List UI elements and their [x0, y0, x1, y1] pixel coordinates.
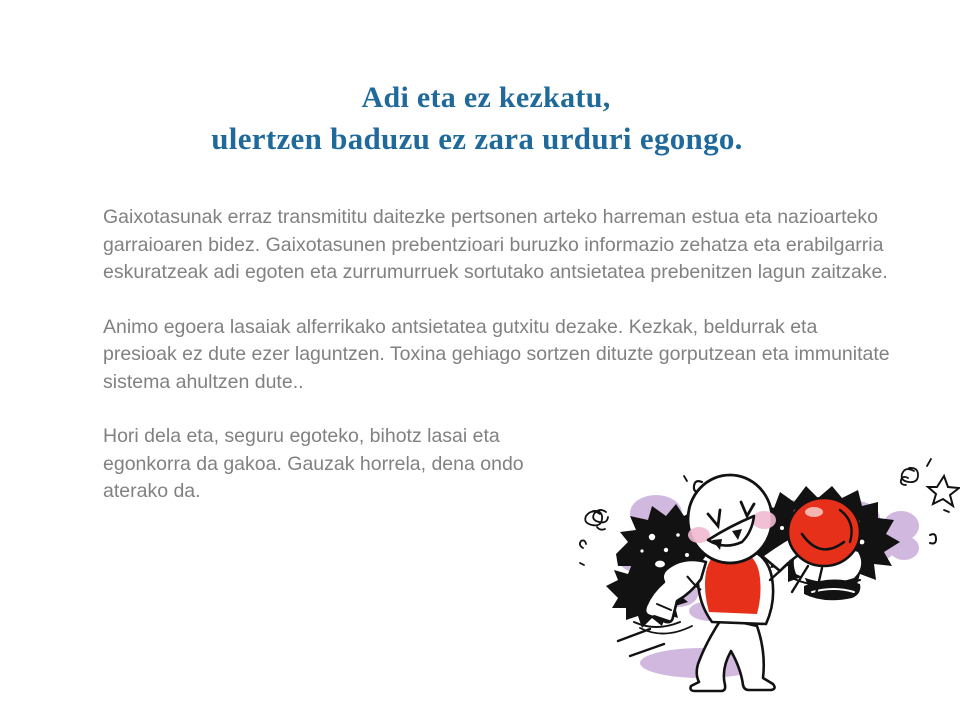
title-line-2: ulertzen baduzu ez zara urduri egongo. — [0, 118, 960, 160]
cartoon-illustration-svg — [556, 436, 960, 698]
title-line-1: Adi eta ez kezkatu, — [12, 78, 960, 118]
paragraph-3: Hori dela eta, seguru egoteko, bihotz la… — [103, 423, 573, 506]
slide-canvas: Adi eta ez kezkatu, ulertzen baduzu ez z… — [0, 0, 960, 720]
page-title: Adi eta ez kezkatu, ulertzen baduzu ez z… — [0, 78, 960, 160]
blush-right — [752, 511, 776, 529]
paragraph-1: Gaixotasunak erraz transmititu daitezke … — [103, 204, 893, 287]
boxing-glove — [788, 498, 860, 566]
illustration-cartoon-person-boxing-germs — [556, 436, 960, 698]
blush-left — [688, 527, 710, 543]
paragraph-2: Animo egoera lasaiak alferrikako antsiet… — [103, 314, 893, 397]
